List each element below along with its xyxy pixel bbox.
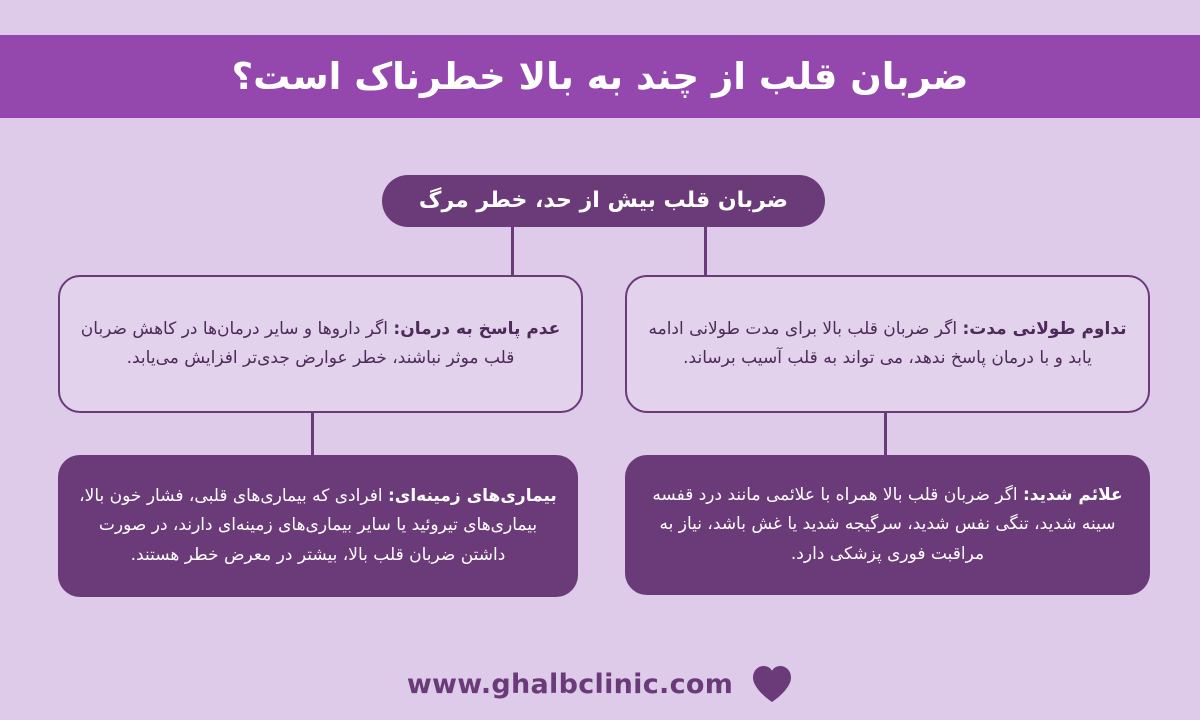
page-title: ضربان قلب از چند به بالا خطرناک است؟ xyxy=(232,55,969,98)
flowchart-node-long-term: تداوم طولانی مدت: اگر ضربان قلب بالا برا… xyxy=(625,275,1150,413)
connector-root-to-long-term xyxy=(704,227,707,275)
flowchart-node-long-term-text: تداوم طولانی مدت: اگر ضربان قلب بالا برا… xyxy=(645,315,1130,373)
connector-root-to-no-response xyxy=(511,227,514,275)
flowchart-node-underlying: بیماری‌های زمینه‌ای: افرادی که بیماری‌ها… xyxy=(58,455,578,597)
flowchart-node-severe: علائم شدید: اگر ضربان قلب بالا همراه با … xyxy=(625,455,1150,595)
flowchart-node-no-response-text: عدم پاسخ به درمان: اگر داروها و سایر درم… xyxy=(78,315,563,373)
heart-icon xyxy=(751,665,793,703)
flowchart-node-underlying-text: بیماری‌های زمینه‌ای: افرادی که بیماری‌ها… xyxy=(76,482,560,570)
flowchart-node-no-response-heading: عدم پاسخ به درمان: xyxy=(393,319,560,339)
header-banner: ضربان قلب از چند به بالا خطرناک است؟ xyxy=(0,35,1200,118)
flowchart-node-long-term-heading: تداوم طولانی مدت: xyxy=(962,319,1126,339)
flowchart-node-severe-text: علائم شدید: اگر ضربان قلب بالا همراه با … xyxy=(643,481,1132,569)
flowchart-node-root: ضربان قلب بیش از حد، خطر مرگ xyxy=(382,175,825,227)
flowchart-node-severe-heading: علائم شدید: xyxy=(1023,485,1123,505)
flowchart-node-no-response: عدم پاسخ به درمان: اگر داروها و سایر درم… xyxy=(58,275,583,413)
connector-long-term-to-severe xyxy=(884,413,887,455)
footer: www.ghalbclinic.com xyxy=(0,648,1200,720)
flowchart: ضربان قلب بیش از حد، خطر مرگ عدم پاسخ به… xyxy=(0,118,1200,648)
flowchart-node-underlying-heading: بیماری‌های زمینه‌ای: xyxy=(388,486,557,506)
website-url[interactable]: www.ghalbclinic.com xyxy=(407,669,733,700)
connector-no-response-to-underlying xyxy=(311,413,314,455)
flowchart-node-root-label: ضربان قلب بیش از حد، خطر مرگ xyxy=(419,187,788,216)
